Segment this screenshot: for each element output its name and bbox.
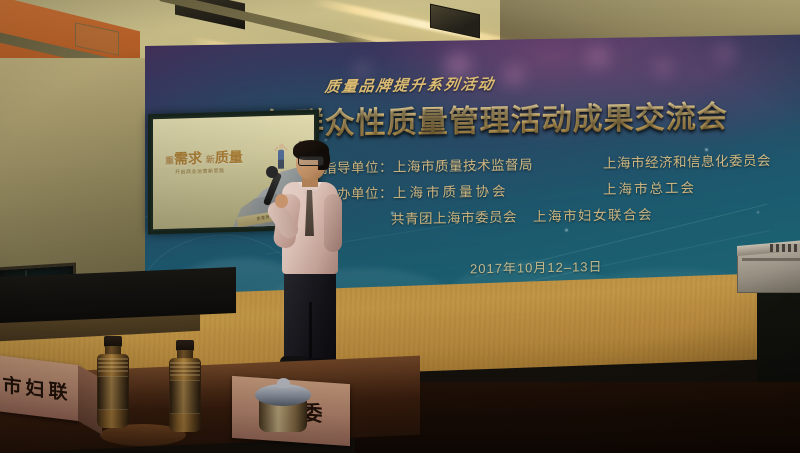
bottle-rings [98,358,128,372]
organizer-row: 指导单位：上海市质量技术监督局上海市经济和信息化委员会 [323,149,771,177]
event-date: 2017年10月12–13日 [470,256,603,277]
organizer-col-a: 上海市质量技术监督局 [393,152,603,176]
speaker-person [262,142,348,370]
bottle-rings [170,362,200,376]
teacup-knob [277,378,290,388]
organizer-col-a: 共青团上海市委员会 [391,205,533,227]
organizer-row: 主办单位：上海市质量协会上海市总工会 [323,176,696,203]
bottle-label [170,380,200,414]
teacup [255,378,311,430]
speaker-leg-seam [309,302,312,364]
bottle-label [98,376,128,410]
equipment-case-latch [742,258,800,261]
organizer-col-a: 上海市质量协会 [393,178,603,202]
organizer-col-b: 上海市总工会 [603,180,696,197]
backdrop-kicker: 质量品牌提升系列活动 [324,73,497,97]
speaker-hand [275,194,288,208]
name-placard: 市妇联 [0,355,80,422]
foreground-shadow [355,382,800,453]
organizer-col-b: 上海市妇女联合会 [533,207,653,224]
conference-photo-scene: 质量品牌提升系列活动 2017年群众性质量管理活动成果交流会 指导单位：上海市质… [0,0,800,453]
microphone-head [266,166,278,178]
equipment-case [737,249,800,293]
equipment-case-knobs [770,244,800,252]
placard-text: 市妇联 [0,369,80,407]
organizer-row: 共青团上海市委员会上海市妇女联合会 [323,203,653,229]
speaker-right-arm [324,194,342,252]
eyeglasses [298,156,324,166]
organizer-col-b: 上海市经济和信息化委员会 [603,153,771,171]
